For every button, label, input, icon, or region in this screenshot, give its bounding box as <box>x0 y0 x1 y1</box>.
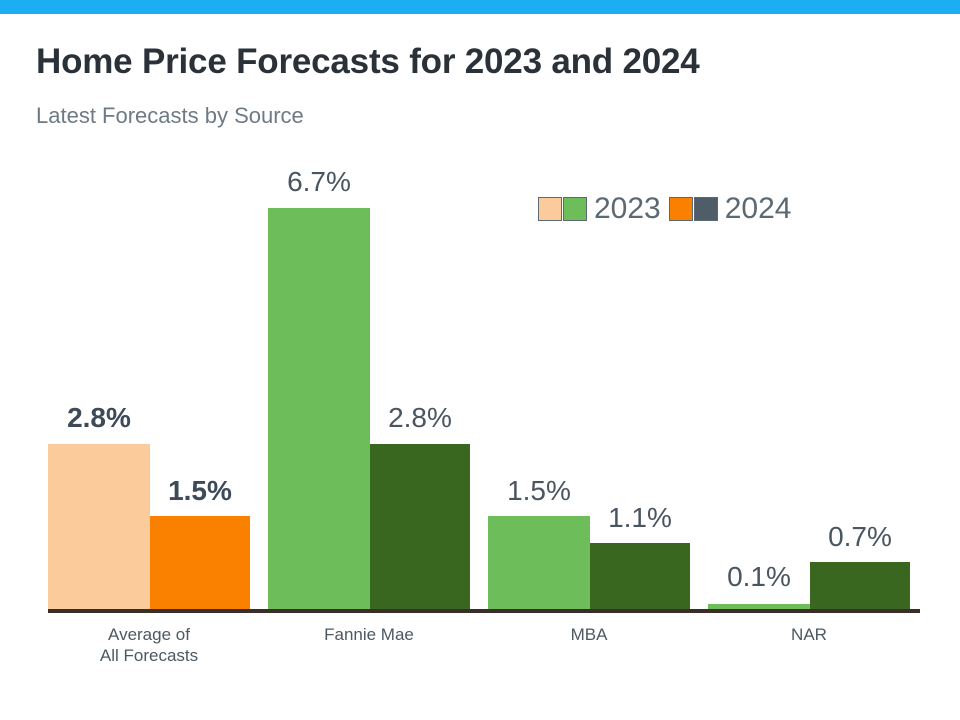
bar-value-label-fannie-2024: 2.8% <box>370 404 470 432</box>
bar-value-label-mba-2024: 1.1% <box>590 504 690 532</box>
bar-mba-2023[interactable] <box>488 516 590 611</box>
bar-value-label-avg-2024: 1.5% <box>150 477 250 505</box>
bar-mba-2024[interactable] <box>590 543 690 611</box>
bar-fannie-2023[interactable] <box>268 208 370 611</box>
bar-value-label-nar-2024: 0.7% <box>810 523 910 551</box>
bar-value-label-avg-2023: 2.8% <box>48 404 150 432</box>
x-axis-line <box>48 609 920 613</box>
bar-avg-2023[interactable] <box>48 444 150 611</box>
bar-avg-2024[interactable] <box>150 516 250 611</box>
bar-value-label-mba-2023: 1.5% <box>488 477 590 505</box>
bar-chart-plot: 2.8%1.5%6.7%2.8%1.5%1.1%0.1%0.7% Average… <box>0 0 960 720</box>
x-axis-label-average-of-all-forecasts: Average of All Forecasts <box>48 624 250 667</box>
x-axis-label-nar: NAR <box>708 624 910 645</box>
bar-fannie-2024[interactable] <box>370 444 470 611</box>
slide-canvas: Home Price Forecasts for 2023 and 2024 L… <box>0 0 960 720</box>
bar-value-label-nar-2023: 0.1% <box>708 563 810 591</box>
bar-nar-2024[interactable] <box>810 562 910 611</box>
bar-value-label-fannie-2023: 6.7% <box>268 168 370 196</box>
x-axis-label-fannie-mae: Fannie Mae <box>268 624 470 645</box>
x-axis-label-mba: MBA <box>488 624 690 645</box>
